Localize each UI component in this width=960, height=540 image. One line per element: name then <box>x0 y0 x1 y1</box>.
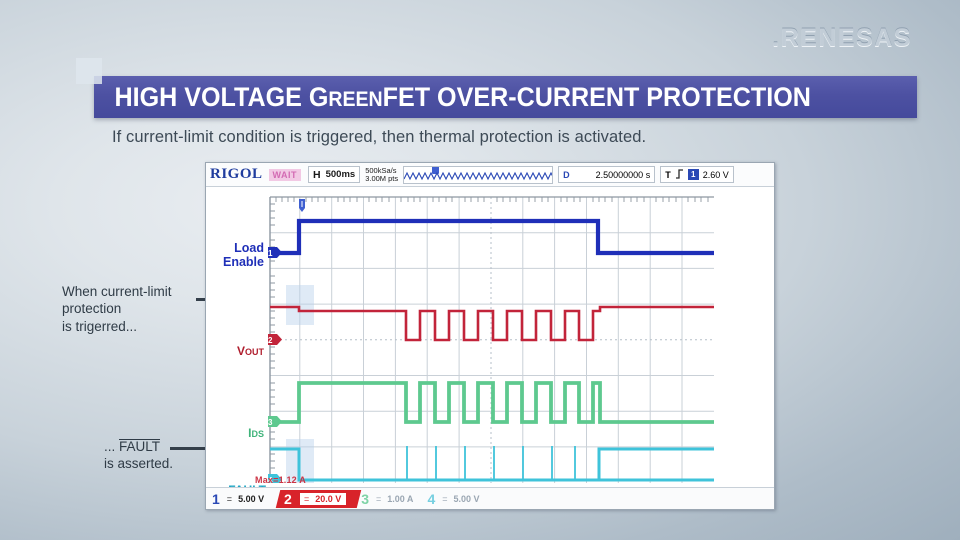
annotation-fault-signal: FAULT <box>119 439 160 455</box>
horizontal-timebase-readout[interactable]: H 500ms <box>308 166 360 183</box>
annotation-current-limit: When current-limit protection is trigerr… <box>62 283 212 335</box>
page-title-smallcaps: REEN <box>328 88 382 111</box>
annotation-line-3: is trigerred... <box>62 318 212 335</box>
load-enable-line2: Enable <box>223 255 264 269</box>
logo-dot: . <box>772 24 780 52</box>
rising-edge-icon <box>675 169 684 181</box>
horizontal-label: H <box>313 169 321 181</box>
channel-3-scale: 1.00 A <box>387 494 413 504</box>
channel-4-number: 4 <box>427 491 435 507</box>
title-band: HIGH VOLTAGE GREENFET OVER-CURRENT PROTE… <box>94 76 917 118</box>
annotation-fault-asserted: ... FAULT is asserted. <box>104 438 214 473</box>
channel-1-setting[interactable]: 1 = 5.00 V <box>212 490 276 508</box>
channel-4-setting[interactable]: 4 = 5.00 V <box>427 490 491 508</box>
channel-3-coupling: = <box>376 494 381 504</box>
scope-status-bar: RIGOL WAIT H 500ms 500kSa/s 3.00M pts D … <box>206 163 774 187</box>
subtitle: If current-limit condition is triggered,… <box>112 128 646 147</box>
channel-2-scale: 20.0 V <box>315 494 341 504</box>
page-title: HIGH VOLTAGE GREENFET OVER-CURRENT PROTE… <box>94 82 811 113</box>
rigol-logo: RIGOL <box>210 166 263 183</box>
channel-3-number: 3 <box>361 491 369 507</box>
delay-label: D <box>563 170 570 180</box>
channel-3-setting[interactable]: 3 = 1.00 A <box>361 490 425 508</box>
logo-text: RENESAS <box>781 24 912 52</box>
channel-2-setting[interactable]: 2 = 20.0 V <box>276 490 362 508</box>
sample-rate-readout: 500kSa/s 3.00M pts <box>365 167 398 183</box>
trigger-level-value: 2.60 V <box>703 170 729 180</box>
annotation-fault-prefix: ... <box>104 439 119 454</box>
scope-waveform-area[interactable]: Load Enable VOUT IDS FAULT <box>206 187 775 487</box>
measurement-readout-max: Max=1.12 A <box>255 475 306 485</box>
trigger-readout[interactable]: T 1 2.60 V <box>660 166 734 183</box>
renesas-logo: .RENESAS <box>772 24 912 53</box>
signal-label-load-enable: Load Enable <box>223 242 264 269</box>
oscilloscope-screenshot: RIGOL WAIT H 500ms 500kSa/s 3.00M pts D … <box>205 162 775 510</box>
svg-text:3: 3 <box>268 418 273 427</box>
waveform-grid[interactable]: 1 2 3 4 <box>268 191 714 483</box>
channel-2-number: 2 <box>284 491 292 507</box>
signal-label-vout: VOUT <box>237 345 264 358</box>
trigger-source-badge: 1 <box>688 169 699 180</box>
channel-1-number: 1 <box>212 491 220 507</box>
load-enable-line1: Load <box>234 241 264 255</box>
vout-sub: OUT <box>245 347 264 357</box>
svg-text:1: 1 <box>268 249 273 258</box>
channel-1-scale: 5.00 V <box>238 494 264 504</box>
channel-4-coupling: = <box>442 494 447 504</box>
title-decor-square <box>76 58 102 84</box>
page-title-part1: HIGH VOLTAGE G <box>114 82 328 112</box>
trigger-delay-readout[interactable]: D 2.50000000 s <box>558 166 655 183</box>
annotation-line-1: When current-limit <box>62 283 212 300</box>
annotation-line-2: protection <box>62 300 212 317</box>
trigger-label: T <box>665 170 671 180</box>
annotation-fault-line-2: is asserted. <box>104 455 214 472</box>
signal-label-ids: IDS <box>248 427 264 440</box>
channel-settings-bar: 1 = 5.00 V 2 = 20.0 V 3 = 1.00 A 4 = 5.0… <box>206 487 774 509</box>
delay-value: 2.50000000 s <box>596 170 651 180</box>
channel-2-value-box: = 20.0 V <box>299 492 347 506</box>
memory-overview-bar[interactable] <box>403 166 553 184</box>
ids-sub: DS <box>251 429 264 439</box>
svg-text:2: 2 <box>268 336 273 345</box>
channel-2-coupling: = <box>304 494 309 504</box>
signal-label-column: Load Enable VOUT IDS FAULT <box>206 187 268 487</box>
page-title-part2: FET OVER-CURRENT PROTECTION <box>383 82 811 112</box>
horizontal-value: 500ms <box>326 169 356 180</box>
vout-main: V <box>237 344 245 358</box>
memory-depth-value: 3.00M pts <box>365 175 398 183</box>
channel-1-coupling: = <box>227 494 232 504</box>
acquisition-status-badge: WAIT <box>269 169 302 181</box>
channel-4-scale: 5.00 V <box>454 494 480 504</box>
